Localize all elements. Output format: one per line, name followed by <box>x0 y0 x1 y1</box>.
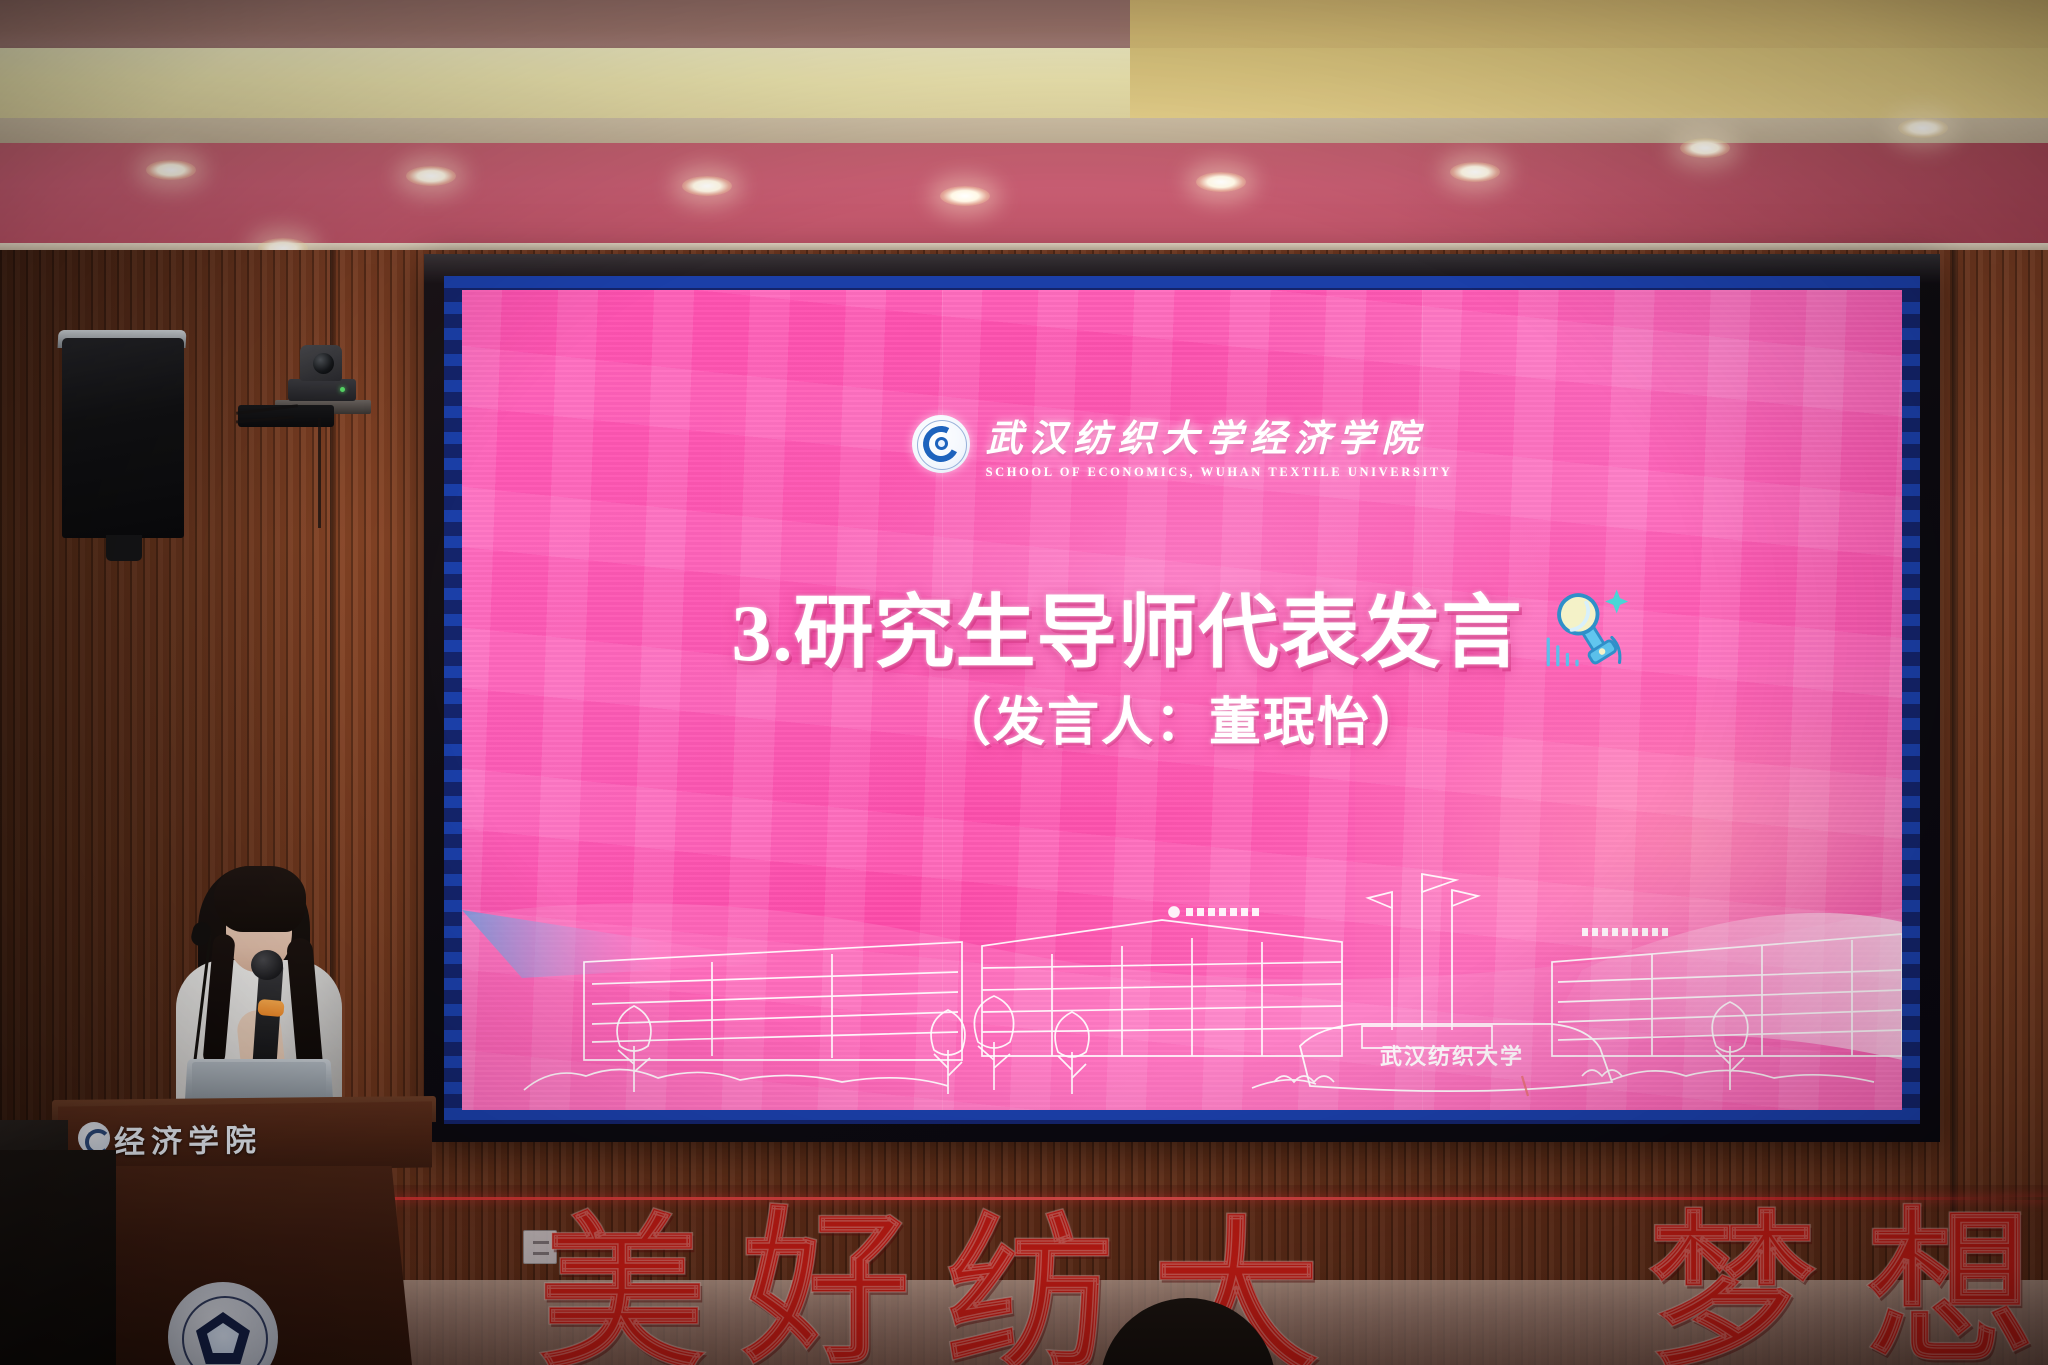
downlight-3 <box>682 176 732 196</box>
slide-subtitle: （发言人：董珉怡） <box>939 695 1425 752</box>
emblem-c-ring <box>918 421 963 466</box>
banner-char-6: 想 <box>1866 1212 2034 1365</box>
banner-char-5: 梦 <box>1648 1216 1816 1365</box>
microphone-icon <box>1537 578 1633 674</box>
downlight-8 <box>1898 118 1948 138</box>
slide-org-logo-text: 武汉纺织大学经济学院 SCHOOL OF ECONOMICS, WUHAN TE… <box>986 408 1453 480</box>
ceiling-soffit-shading <box>1390 143 2048 248</box>
downlight-7 <box>1680 138 1730 158</box>
banner-char-2: 好 <box>742 1212 910 1365</box>
slide-subtitle-row: （发言人：董珉怡） <box>462 680 1902 755</box>
auditorium-scene: 武汉纺织大学经济学院 SCHOOL OF ECONOMICS, WUHAN TE… <box>0 0 2048 1365</box>
wall-speaker-icon <box>62 338 184 538</box>
foreground-object-lower <box>0 1150 116 1365</box>
banner-char-3: 纺 <box>946 1218 1114 1365</box>
ptz-camera-body <box>288 379 356 401</box>
cable-strand-3 <box>318 418 321 528</box>
ceiling-tan-band <box>0 118 2048 146</box>
downlight-4 <box>940 186 990 206</box>
ptz-camera-status-led <box>340 387 345 392</box>
downlight-5 <box>1196 172 1246 192</box>
sparkle-icon <box>1605 590 1628 614</box>
ceiling-cream-band-right <box>1130 0 2048 120</box>
presenter-hair-front <box>214 866 306 932</box>
wall-speaker-mount <box>106 535 142 561</box>
slide-title-row: 3.研究生导师代表发言 <box>462 568 1902 684</box>
led-screen-display[interactable]: 武汉纺织大学经济学院 SCHOOL OF ECONOMICS, WUHAN TE… <box>462 290 1902 1110</box>
university-emblem-icon <box>912 415 970 473</box>
ptz-camera-lens-icon <box>313 353 334 374</box>
downlight-1 <box>146 160 196 180</box>
slide-org-logo: 武汉纺织大学经济学院 SCHOOL OF ECONOMICS, WUHAN TE… <box>462 408 1902 480</box>
art-monument-text: 武汉纺织大学 <box>1380 1044 1524 1069</box>
slide-title: 3.研究生导师代表发言 <box>732 568 1523 684</box>
emblem-center-dot <box>935 437 948 450</box>
podium-seal-inner <box>196 1312 250 1364</box>
campus-line-art-illustration: 武汉纺织大学 <box>462 850 1902 1110</box>
podium-label: 经济学院 <box>114 1114 262 1161</box>
handheld-microphone-grip <box>257 999 284 1017</box>
downlight-6 <box>1450 162 1500 182</box>
slide-org-name-cn: 武汉纺织大学经济学院 <box>986 408 1453 462</box>
sound-bars-icon <box>1546 638 1578 667</box>
laptop-screen <box>192 1062 326 1102</box>
banner-char-1: 美 <box>538 1218 706 1365</box>
downlight-2 <box>406 166 456 186</box>
slide-org-name-en: SCHOOL OF ECONOMICS, WUHAN TEXTILE UNIVE… <box>986 465 1453 480</box>
handheld-microphone-head <box>251 950 283 980</box>
